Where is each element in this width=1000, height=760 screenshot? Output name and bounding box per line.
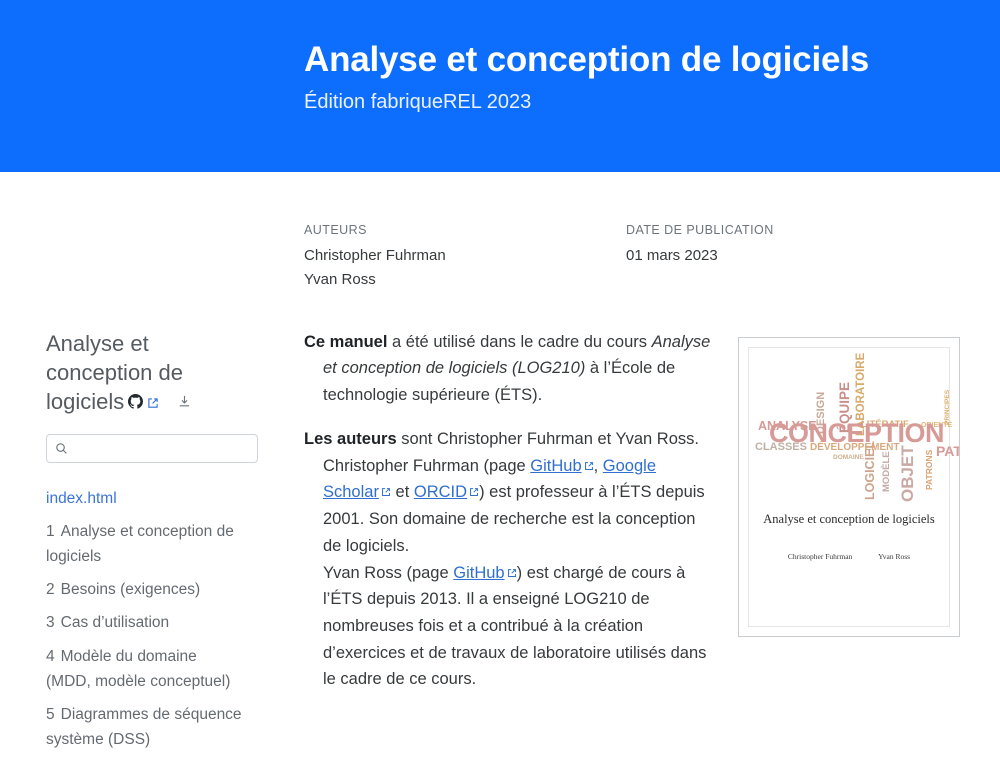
main-content: ANALYSE DESIGN ÉQUIPE LABORATOIRE LITÉRA… — [260, 329, 1000, 760]
link-github-ross[interactable]: GitHub — [453, 564, 504, 582]
external-link-icon — [584, 461, 594, 471]
cover-author: Yvan Ross — [878, 552, 910, 561]
page-title: Analyse et conception de logiciels — [304, 40, 1000, 80]
chapter-number: 1 — [46, 523, 55, 540]
authors-label: AUTEURS — [304, 222, 626, 238]
p2-text-6: Yvan Ross (page — [323, 564, 453, 582]
external-link-icon — [469, 487, 479, 497]
chapter-label: Modèle du domaine (MDD, modèle conceptue… — [46, 648, 230, 690]
cover-author: Christopher Fuhrman — [788, 552, 852, 561]
chapter-number: 3 — [46, 614, 55, 631]
chapter-number: 5 — [46, 706, 55, 723]
wordcloud-word: DÉVELOPPEMENT — [810, 443, 899, 453]
book-cover-image: ANALYSE DESIGN ÉQUIPE LABORATOIRE LITÉRA… — [738, 337, 960, 637]
sidebar-toc: index.html 1Analyse et conception de log… — [46, 487, 244, 752]
download-icon[interactable] — [177, 387, 192, 416]
sidebar-item-chapter-3[interactable]: 3Cas d’utilisation — [46, 610, 244, 635]
external-link-icon — [381, 487, 391, 497]
search-icon — [55, 442, 68, 455]
author-name: Christopher Fuhrman — [304, 244, 626, 267]
sidebar-item-index[interactable]: index.html — [46, 487, 244, 510]
chapter-label: Analyse et conception de logiciels — [46, 523, 234, 565]
p2-text-3: , — [594, 457, 603, 475]
external-link-icon[interactable] — [147, 387, 159, 416]
cover-title: Analyse et conception de logiciels — [749, 512, 949, 527]
cover-wordcloud: ANALYSE DESIGN ÉQUIPE LABORATOIRE LITÉRA… — [749, 370, 949, 488]
chapter-label: Diagrammes de séquence système (DSS) — [46, 706, 242, 748]
search-box[interactable] — [46, 434, 258, 463]
wordcloud-word: PATRONS — [925, 449, 934, 489]
sidebar-title: Analyse et conception de logiciels — [46, 329, 244, 416]
p2-text-1: sont Christopher Fuhrman et Yvan Ross. — [397, 430, 699, 448]
wordcloud-word: OBJET — [899, 445, 916, 502]
sidebar-item-chapter-4[interactable]: 4Modèle du domaine (MDD, modèle conceptu… — [46, 644, 244, 694]
wordcloud-word: PATTERNS — [936, 444, 960, 458]
chapter-label: Besoins (exigences) — [61, 581, 201, 598]
wordcloud-word: PRINCIPES — [945, 390, 952, 425]
page-banner: Analyse et conception de logiciels Éditi… — [0, 0, 1000, 172]
sidebar-item-chapter-5[interactable]: 5Diagrammes de séquence système (DSS) — [46, 702, 244, 752]
metadata-authors: AUTEURS Christopher Fuhrman Yvan Ross — [304, 222, 626, 291]
link-orcid[interactable]: ORCID — [414, 483, 467, 501]
p2-text-7: ) est chargé de cours à l’ÉTS depuis 201… — [323, 564, 706, 689]
cover-authors: Christopher Fuhrman Yvan Ross — [775, 552, 923, 561]
metadata-date: DATE DE PUBLICATION 01 mars 2023 — [626, 222, 774, 291]
author-name: Yvan Ross — [304, 268, 626, 291]
sidebar: Analyse et conception de logiciels — [0, 329, 260, 760]
link-github-fuhrman[interactable]: GitHub — [530, 457, 581, 475]
lead-ce-manuel: Ce manuel — [304, 333, 387, 351]
chapter-number: 4 — [46, 648, 55, 665]
lead-les-auteurs: Les auteurs — [304, 430, 397, 448]
p1-text-1: a été utilisé dans le cadre du cours — [387, 333, 651, 351]
github-icon[interactable] — [128, 387, 143, 416]
p2-text-2: Christopher Fuhrman (page — [323, 457, 530, 475]
p2-text-4: et — [391, 483, 414, 501]
search-input[interactable] — [73, 440, 249, 457]
chapter-label: Cas d’utilisation — [61, 614, 170, 631]
external-link-icon — [507, 568, 517, 578]
wordcloud-word: MODÈLE — [882, 451, 892, 492]
publication-date-label: DATE DE PUBLICATION — [626, 222, 774, 238]
sidebar-item-chapter-1[interactable]: 1Analyse et conception de logiciels — [46, 519, 244, 569]
article-metadata: AUTEURS Christopher Fuhrman Yvan Ross DA… — [0, 172, 1000, 291]
publication-date-value: 01 mars 2023 — [626, 244, 774, 267]
chapter-number: 2 — [46, 581, 55, 598]
sidebar-item-chapter-2[interactable]: 2Besoins (exigences) — [46, 577, 244, 602]
wordcloud-word: CLASSES — [755, 442, 807, 453]
wordcloud-word: DOMAINE — [833, 455, 864, 462]
page-subtitle: Édition fabriqueREL 2023 — [304, 90, 1000, 114]
